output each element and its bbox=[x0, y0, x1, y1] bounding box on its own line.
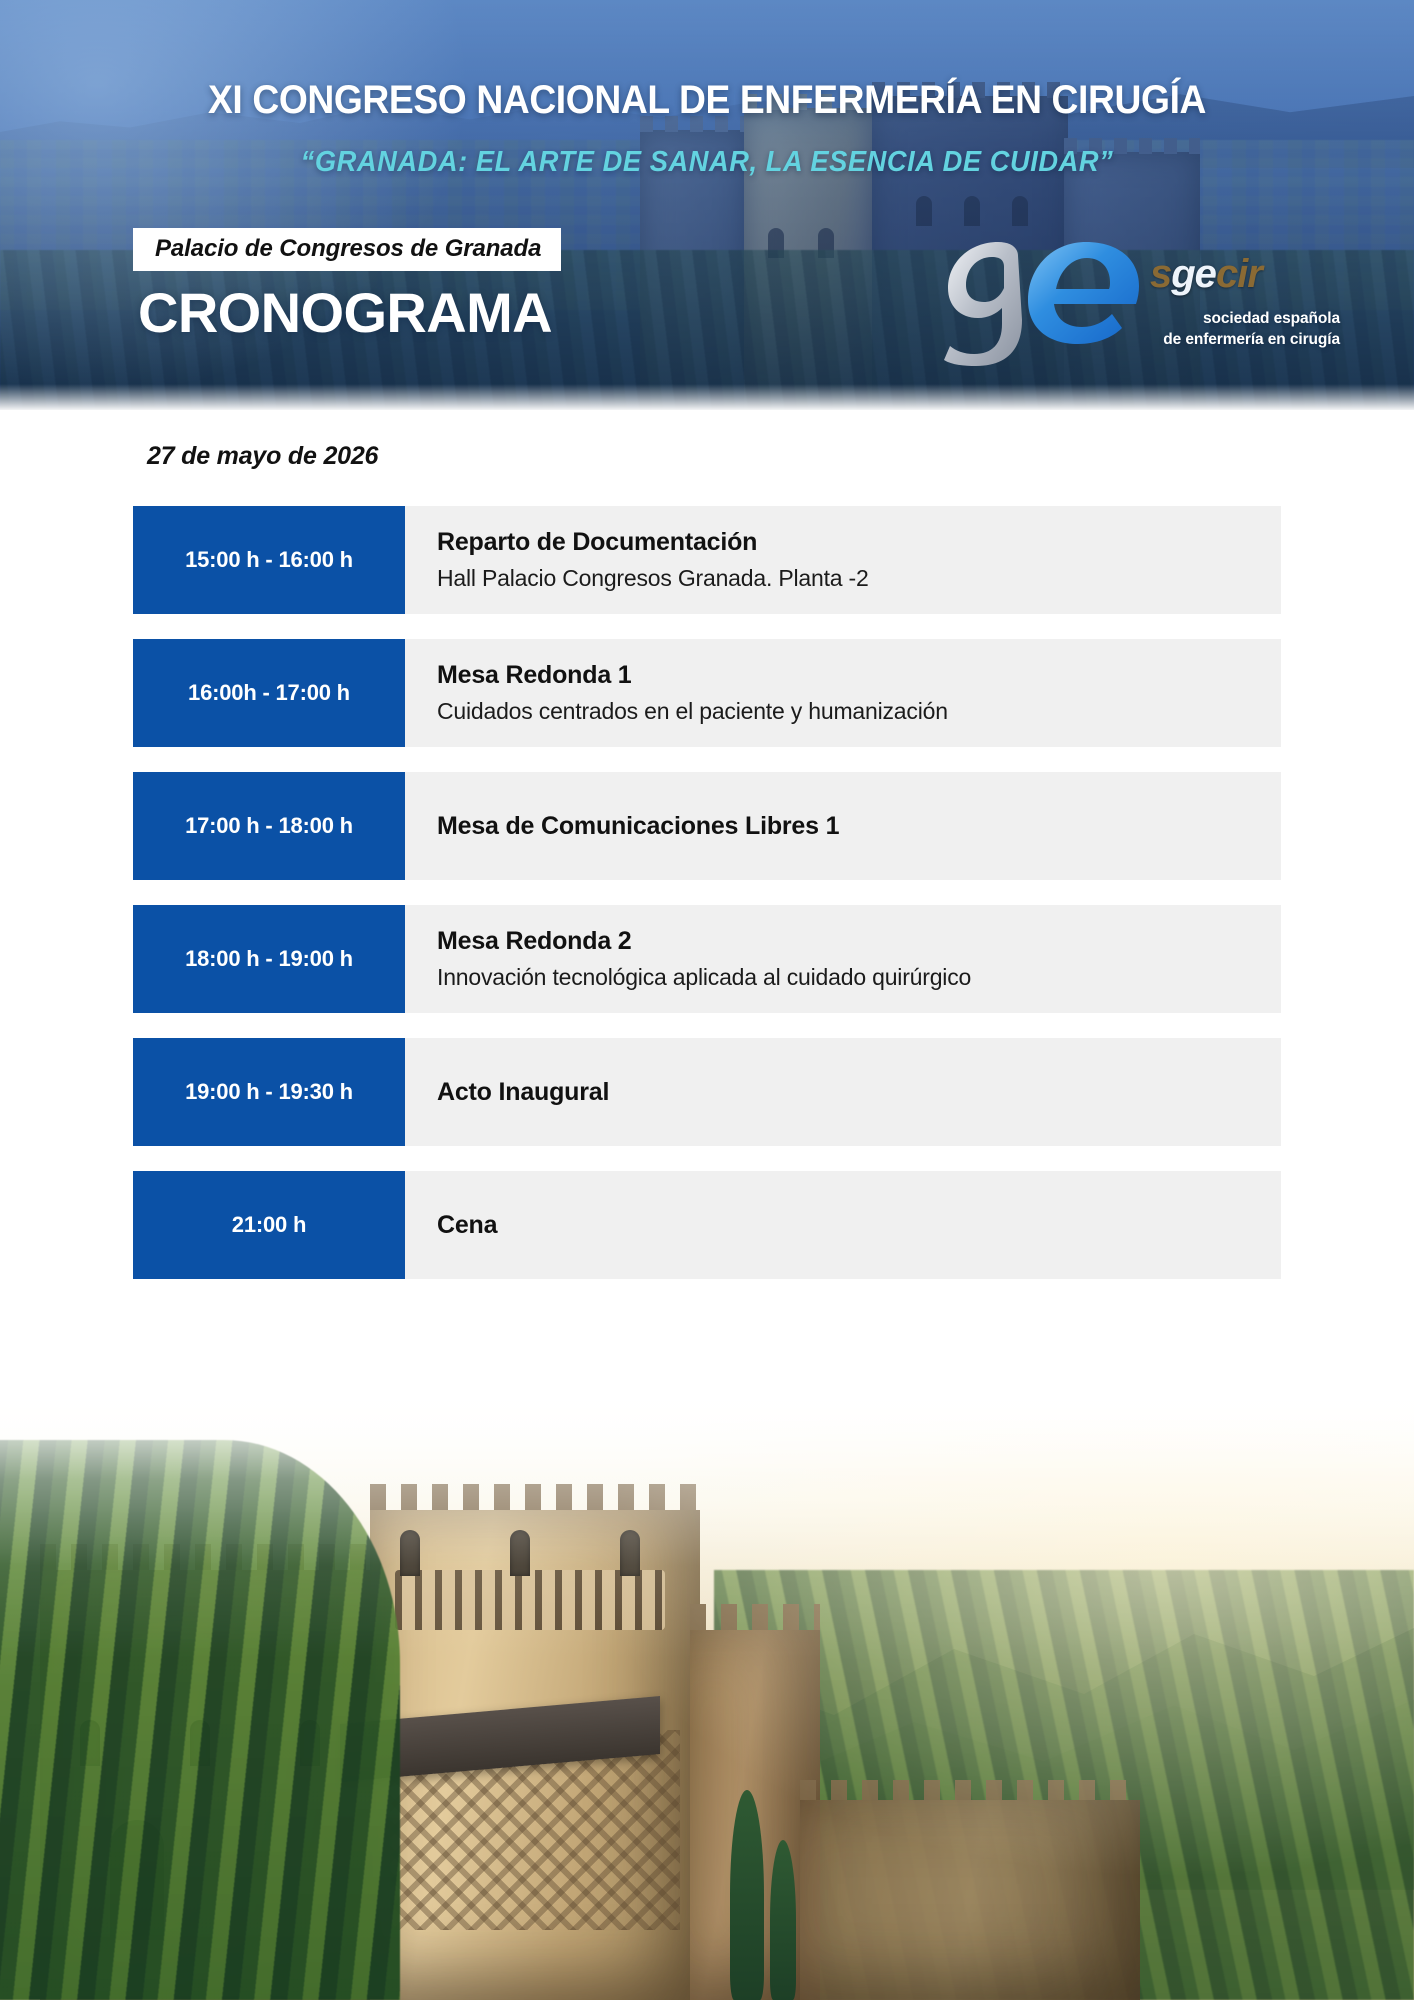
row-content: Reparto de Documentación Hall Palacio Co… bbox=[405, 506, 1281, 614]
row-title: Mesa Redonda 2 bbox=[437, 926, 1255, 957]
row-content: Cena bbox=[405, 1171, 1281, 1279]
cypress-tree bbox=[730, 1790, 764, 2000]
logo-tagline-line2: de enfermería en cirugía bbox=[1150, 329, 1340, 350]
row-title: Mesa Redonda 1 bbox=[437, 660, 1255, 691]
wordmark-ge: ge bbox=[1171, 252, 1216, 296]
ge-monogram-icon bbox=[940, 240, 1150, 366]
page-title: CRONOGRAMA bbox=[138, 285, 552, 341]
alhambra-photo bbox=[0, 1380, 1414, 2000]
row-time-badge: 17:00 h - 18:00 h bbox=[133, 772, 405, 880]
logo-tagline-line1: sociedad española bbox=[1150, 308, 1340, 329]
sgecir-wordmark: sgecir bbox=[1150, 254, 1262, 294]
row-content: Acto Inaugural bbox=[405, 1038, 1281, 1146]
row-subtitle: Cuidados centrados en el paciente y huma… bbox=[437, 697, 1255, 727]
row-time-badge: 18:00 h - 19:00 h bbox=[133, 905, 405, 1013]
schedule-date-label: 27 de mayo de 2026 bbox=[147, 442, 378, 471]
venue-chip: Palacio de Congresos de Granada bbox=[133, 228, 561, 271]
row-subtitle: Hall Palacio Congresos Granada. Planta -… bbox=[437, 564, 1255, 594]
cypress-tree bbox=[770, 1840, 796, 2000]
row-time-badge: 16:00h - 17:00 h bbox=[133, 639, 405, 747]
table-row[interactable]: 16:00h - 17:00 h Mesa Redonda 1 Cuidados… bbox=[133, 639, 1281, 747]
row-time-badge: 21:00 h bbox=[133, 1171, 405, 1279]
logo-tagline: sociedad española de enfermería en cirug… bbox=[1150, 308, 1340, 351]
table-row[interactable]: 21:00 h Cena bbox=[133, 1171, 1281, 1279]
row-title: Acto Inaugural bbox=[437, 1077, 1255, 1108]
wordmark-cir: cir bbox=[1216, 252, 1262, 296]
table-row[interactable]: 18:00 h - 19:00 h Mesa Redonda 2 Innovac… bbox=[133, 905, 1281, 1013]
sgecir-logo: sgecir sociedad española de enfermería e… bbox=[940, 238, 1340, 368]
wordmark-s: s bbox=[1150, 252, 1171, 296]
row-time-badge: 15:00 h - 16:00 h bbox=[133, 506, 405, 614]
alhambra-lower-wall bbox=[800, 1800, 1140, 2000]
table-row[interactable]: 15:00 h - 16:00 h Reparto de Documentaci… bbox=[133, 506, 1281, 614]
row-content: Mesa Redonda 2 Innovación tecnológica ap… bbox=[405, 905, 1281, 1013]
photo-forest-left bbox=[0, 1440, 400, 2000]
row-title: Reparto de Documentación bbox=[437, 527, 1255, 558]
row-title: Cena bbox=[437, 1210, 1255, 1241]
row-subtitle: Innovación tecnológica aplicada al cuida… bbox=[437, 963, 1255, 993]
header-banner: XI CONGRESO NACIONAL DE ENFERMERÍA EN CI… bbox=[0, 0, 1414, 410]
schedule-list: 15:00 h - 16:00 h Reparto de Documentaci… bbox=[133, 506, 1281, 1304]
row-content: Mesa Redonda 1 Cuidados centrados en el … bbox=[405, 639, 1281, 747]
banner-text-layer: XI CONGRESO NACIONAL DE ENFERMERÍA EN CI… bbox=[0, 0, 1414, 410]
table-row[interactable]: 19:00 h - 19:30 h Acto Inaugural bbox=[133, 1038, 1281, 1146]
congress-subtitle: “GRANADA: EL ARTE DE SANAR, LA ESENCIA D… bbox=[42, 148, 1371, 177]
congress-title: XI CONGRESO NACIONAL DE ENFERMERÍA EN CI… bbox=[49, 80, 1364, 120]
row-time-badge: 19:00 h - 19:30 h bbox=[133, 1038, 405, 1146]
table-row[interactable]: 17:00 h - 18:00 h Mesa de Comunicaciones… bbox=[133, 772, 1281, 880]
row-title: Mesa de Comunicaciones Libres 1 bbox=[437, 811, 1255, 842]
row-content: Mesa de Comunicaciones Libres 1 bbox=[405, 772, 1281, 880]
banner-bottom-fade bbox=[0, 384, 1414, 410]
